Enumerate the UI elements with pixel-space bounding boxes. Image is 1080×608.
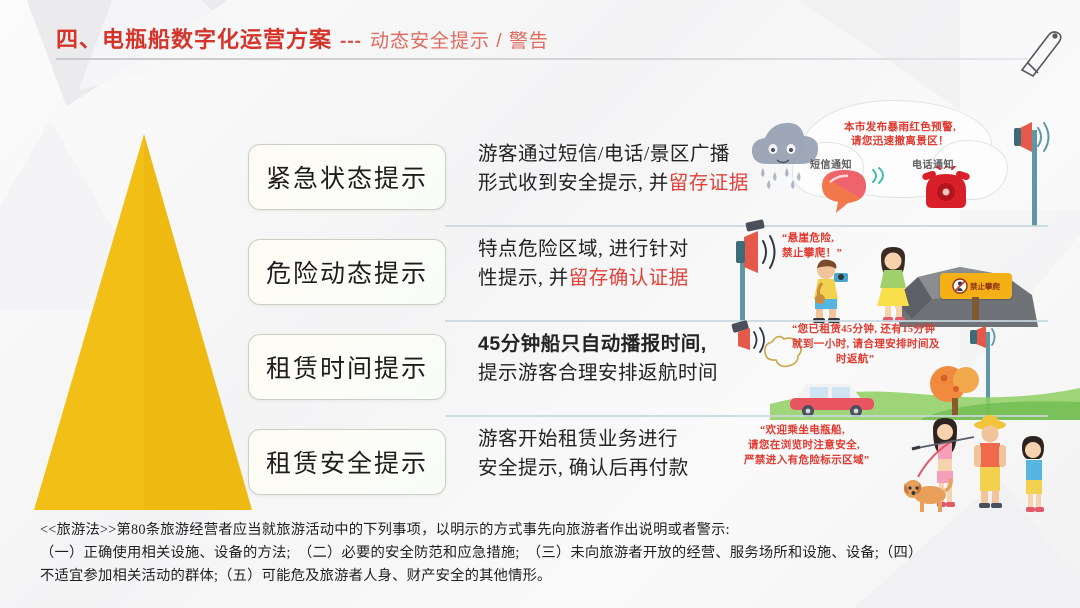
loudspeaker-icon	[728, 219, 786, 329]
row-emergency: 紧急状态提示 游客通过短信/电话/景区广播 形式收到安全提示, 并留存证据	[0, 132, 1080, 227]
desc-plain: 形式收到安全提示, 并	[478, 173, 669, 194]
desc-rental-safety: 游客开始租赁业务进行 安全提示, 确认后再付款	[478, 425, 753, 484]
tourist-man-icon	[964, 413, 1016, 511]
bubble-text-line-2: 就到一小时, 请合理安排时间及	[792, 337, 940, 352]
desc-plain: 性提示, 并	[478, 268, 569, 289]
desc-rental-time: 45分钟船只自动播报时间, 提示游客合理安排返航时间	[478, 330, 753, 389]
pill-label: 危险动态提示	[266, 254, 428, 290]
desc-line-2: 提示游客合理安排返航时间	[478, 359, 753, 388]
bubble-text-line-1: “悬崖危险,	[782, 231, 834, 246]
desc-line-1: 游客通过短信/电话/景区广播	[478, 140, 753, 169]
desc-line-2: 安全提示, 确认后再付款	[478, 454, 753, 483]
boarding-safety-illustration: “欢迎乘坐电瓶船, 请您在浏览时注意安全, 严禁进入有危险标示区域”	[740, 417, 1080, 512]
bubble-text-line-2: 请您在浏览时注意安全,	[748, 438, 860, 453]
row-rental-safety: 租赁安全提示 游客开始租赁业务进行 安全提示, 确认后再付款 “欢迎乘坐电瓶船,…	[0, 417, 1080, 512]
header-divider	[56, 58, 1028, 60]
bubble-text-line-1: “您已租赁45分钟, 还有15分钟	[792, 322, 935, 337]
bubble-text-line-1: 本市发布暴雨红色预警,	[825, 120, 975, 135]
label-pill-rental-time[interactable]: 租赁时间提示	[248, 334, 446, 400]
row-danger: 危险动态提示 特点危险区域, 进行针对 性提示, 并留存确认证据	[0, 227, 1080, 322]
page-subtitle: 动态安全提示 / 警告	[370, 26, 549, 53]
desc-line-2: 性提示, 并留存确认证据	[478, 264, 753, 293]
warning-sign-icon: 禁止攀爬	[940, 273, 1012, 299]
desc-line-1: 特点危险区域, 进行针对	[478, 235, 753, 264]
tree-icon	[922, 358, 992, 418]
tourist-girl-icon	[868, 247, 918, 323]
slide-root: 四、电瓶船数字化运营方案 --- 动态安全提示 / 警告 紧急状态提示 游客通过…	[0, 0, 1080, 608]
tourist-boy-icon	[800, 259, 854, 323]
sign-label: 禁止攀爬	[970, 281, 1000, 292]
telephone-icon	[918, 166, 974, 216]
no-climbing-glyph	[952, 278, 968, 294]
content-rows: 紧急状态提示 游客通过短信/电话/景区广播 形式收到安全提示, 并留存证据	[0, 132, 1080, 512]
page-title: 四、电瓶船数字化运营方案	[56, 22, 332, 54]
loudspeaker-icon	[1002, 106, 1058, 226]
desc-line-1: 45分钟船只自动播报时间,	[478, 330, 753, 359]
desc-highlight: 留存确认证据	[569, 268, 689, 289]
desc-danger: 特点危险区域, 进行针对 性提示, 并留存确认证据	[478, 235, 753, 294]
desc-highlight: 留存证据	[669, 173, 749, 194]
fishing-rod-icon	[910, 433, 980, 455]
title-dash: ---	[340, 31, 362, 53]
desc-line-1: 游客开始租赁业务进行	[478, 425, 753, 454]
storm-alert-illustration: 本市发布暴雨红色预警, 请您迅速撤离景区！ 短信通知 电话通知	[740, 132, 1080, 227]
rain-cloud-icon	[745, 104, 825, 200]
bg-polygon-3	[800, 0, 960, 110]
label-pill-emergency[interactable]: 紧急状态提示	[248, 144, 446, 210]
row-rental-time: 租赁时间提示 45分钟船只自动播报时间, 提示游客合理安排返航时间	[0, 322, 1080, 417]
pill-label: 租赁安全提示	[266, 444, 428, 480]
speech-balloon-icon	[818, 168, 870, 214]
pen-icon	[1008, 14, 1068, 84]
label-pill-rental-safety[interactable]: 租赁安全提示	[248, 429, 446, 495]
boat-icon	[786, 370, 886, 418]
bubble-text-line-3: 严禁进入有危险标示区域”	[744, 453, 870, 468]
pill-label: 紧急状态提示	[266, 159, 428, 195]
pill-label: 租赁时间提示	[266, 349, 428, 385]
bubble-text-line-2: 请您迅速撤离景区！	[825, 134, 975, 149]
footnote-line-1: <<旅游法>>第80条旅游经营者应当就旅游活动中的下列事项，以明示的方式事先向旅…	[40, 519, 1050, 542]
desc-emergency: 游客通过短信/电话/景区广播 形式收到安全提示, 并留存证据	[478, 140, 753, 199]
label-pill-danger[interactable]: 危险动态提示	[248, 239, 446, 305]
slide-header: 四、电瓶船数字化运营方案 --- 动态安全提示 / 警告	[56, 22, 1036, 54]
rental-time-illustration: “您已租赁45分钟, 还有15分钟 就到一小时, 请合理安排时间及 时返航”	[740, 322, 1080, 417]
tourist-child-icon	[1014, 435, 1056, 513]
signal-waves-icon	[868, 166, 890, 188]
cliff-warning-illustration: “悬崖危险, 禁止攀爬！”	[740, 227, 1080, 322]
bubble-text-line-1: “欢迎乘坐电瓶船,	[760, 423, 845, 438]
footnote-line-2: （一）正确使用相关设施、设备的方法; （二）必要的安全防范和应急措施; （三）未…	[40, 542, 1050, 565]
bubble-text-line-3: 时返航”	[836, 352, 874, 367]
footnote: <<旅游法>>第80条旅游经营者应当就旅游活动中的下列事项，以明示的方式事先向旅…	[40, 519, 1050, 588]
footnote-line-3: 不适宜参加相关活动的群体;（五）可能危及旅游者人身、财产安全的其他情形。	[40, 565, 1050, 588]
desc-line-2: 形式收到安全提示, 并留存证据	[478, 169, 753, 198]
